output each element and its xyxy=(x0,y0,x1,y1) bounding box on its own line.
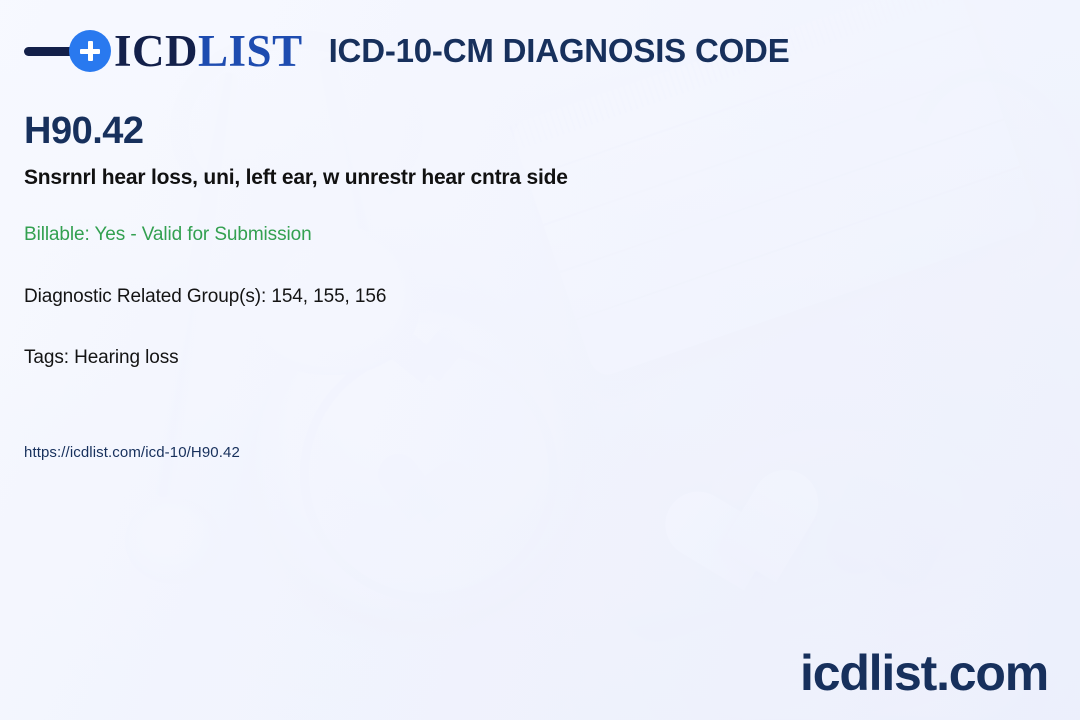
diagnosis-code: H90.42 xyxy=(24,112,144,152)
tags-line: Tags: Hearing loss xyxy=(24,347,179,369)
icd-code-card: ICDLIST ICD-10-CM DIAGNOSIS CODE H90.42 … xyxy=(0,0,1080,720)
diagnostic-related-groups: Diagnostic Related Group(s): 154, 155, 1… xyxy=(24,286,386,308)
logo-word-icd: ICD xyxy=(114,26,198,76)
page-header: ICDLIST ICD-10-CM DIAGNOSIS CODE xyxy=(24,22,1056,80)
logo-wordmark: ICDLIST xyxy=(114,29,303,74)
source-url[interactable]: https://icdlist.com/icd-10/H90.42 xyxy=(24,444,240,461)
logo-word-list: LIST xyxy=(198,26,303,76)
icdlist-logo[interactable]: ICDLIST xyxy=(24,22,303,80)
page-title: ICD-10-CM DIAGNOSIS CODE xyxy=(329,32,790,70)
card-content: ICDLIST ICD-10-CM DIAGNOSIS CODE H90.42 … xyxy=(0,0,1080,720)
diagnosis-description: Snsrnrl hear loss, uni, left ear, w unre… xyxy=(24,165,568,190)
billable-status: Billable: Yes - Valid for Submission xyxy=(24,224,312,246)
site-watermark: icdlist.com xyxy=(800,648,1048,698)
plus-icon xyxy=(69,30,111,72)
